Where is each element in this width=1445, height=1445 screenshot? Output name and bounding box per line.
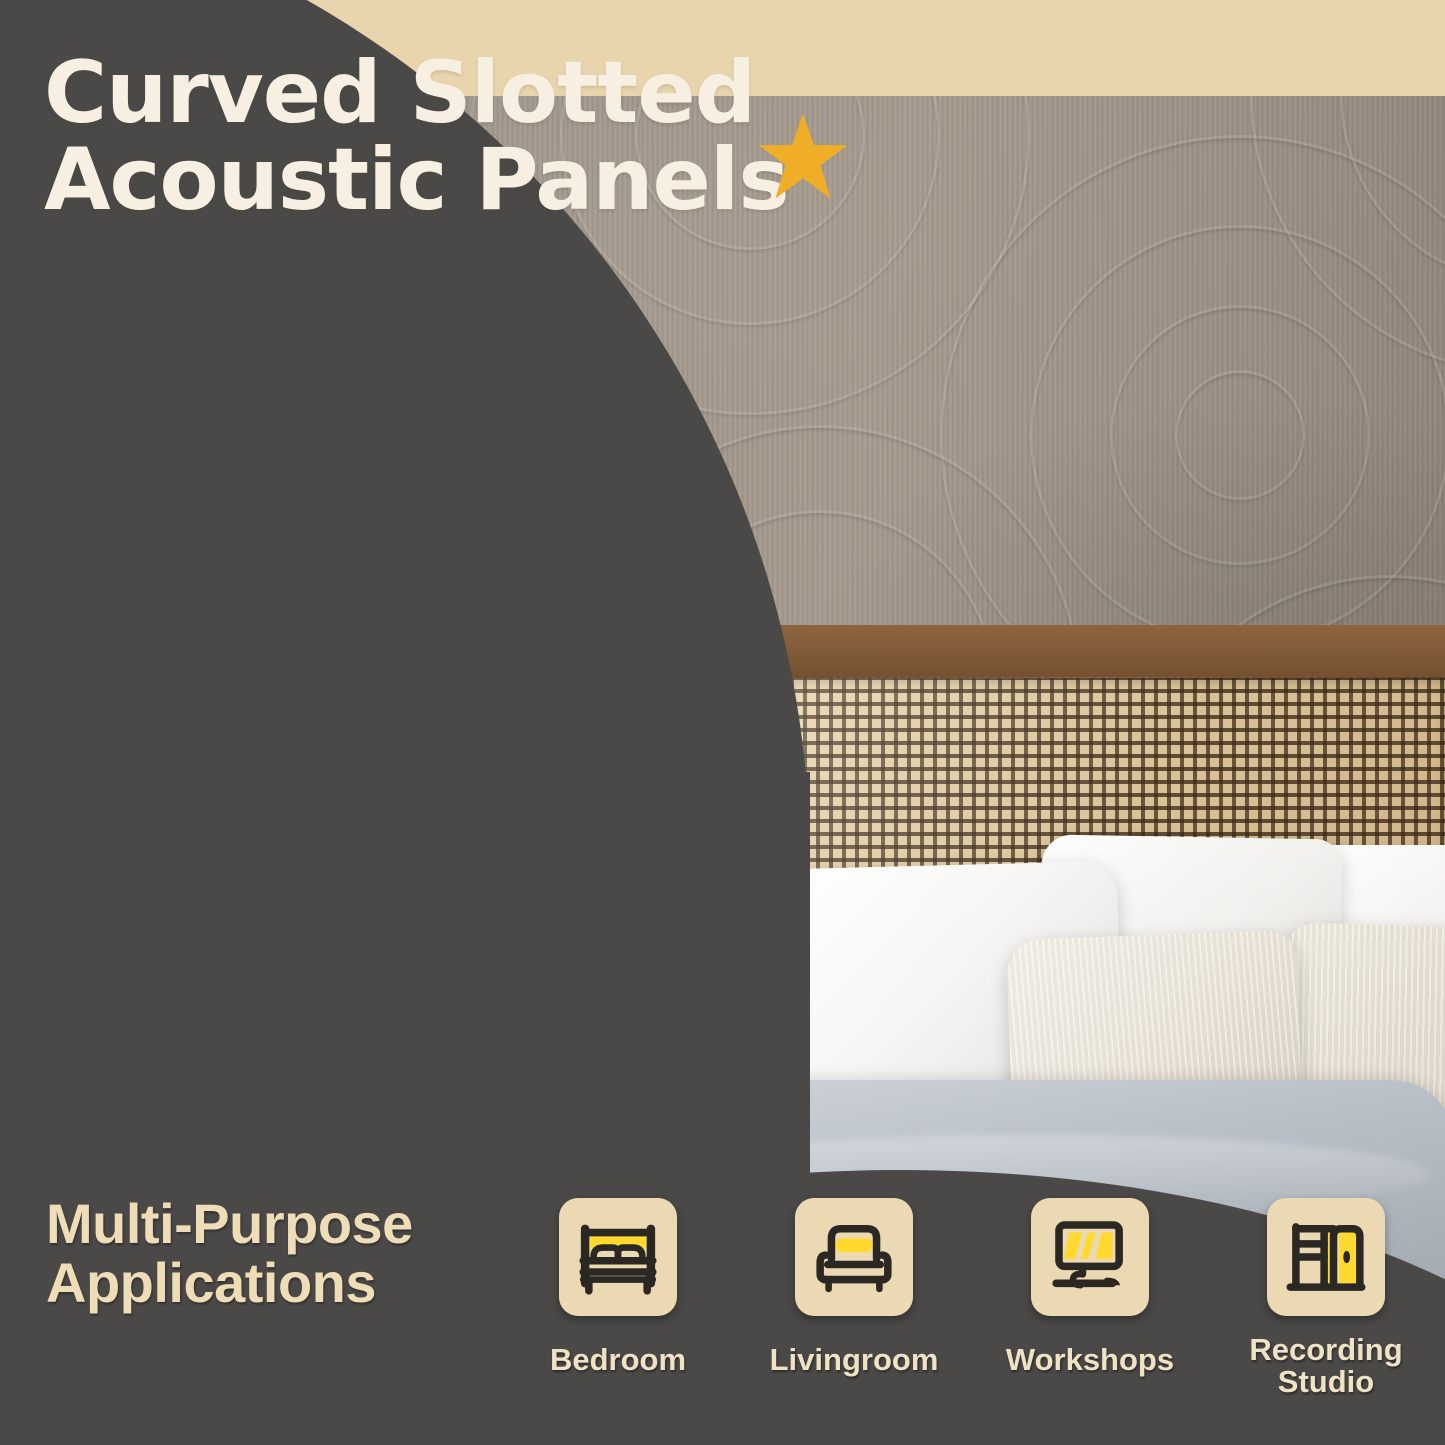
- computer-mouse-icon: [1043, 1210, 1137, 1304]
- livingroom-icon-tile: [795, 1198, 913, 1316]
- application-label: Bedroom: [550, 1344, 686, 1376]
- application-label: Livingroom: [770, 1344, 939, 1376]
- application-label: Workshops: [1006, 1344, 1174, 1376]
- bed-icon: [571, 1210, 665, 1304]
- product-marketing-image: Curved Slotted Acoustic Panels Multi-Pur…: [0, 0, 1445, 1445]
- recording-studio-icon-tile: [1267, 1198, 1385, 1316]
- application-label: Recording Studio: [1249, 1334, 1402, 1398]
- headline-line-2: Acoustic Panels: [44, 139, 789, 222]
- armchair-icon: [807, 1210, 901, 1304]
- workshops-icon-tile: [1031, 1198, 1149, 1316]
- page-title: Curved Slotted Acoustic Panels: [44, 52, 789, 221]
- application-item-workshops: Workshops: [972, 1198, 1208, 1376]
- application-item-recording-studio: Recording Studio: [1208, 1198, 1444, 1398]
- headline-line-1: Curved Slotted: [44, 52, 789, 135]
- bedroom-icon-tile: [559, 1198, 677, 1316]
- features-title-line-2: Applications: [46, 1254, 413, 1311]
- application-list: Bedroom Livingroom: [500, 1198, 1445, 1433]
- headboard-top-rail: [737, 625, 1445, 677]
- features-title: Multi-Purpose Applications: [46, 1195, 413, 1311]
- application-item-livingroom: Livingroom: [736, 1198, 972, 1376]
- application-item-bedroom: Bedroom: [500, 1198, 736, 1376]
- panel-groove-ring: [1175, 370, 1305, 500]
- features-title-line-1: Multi-Purpose: [46, 1195, 413, 1252]
- studio-panel-icon: [1279, 1210, 1373, 1304]
- star-icon: [757, 112, 849, 204]
